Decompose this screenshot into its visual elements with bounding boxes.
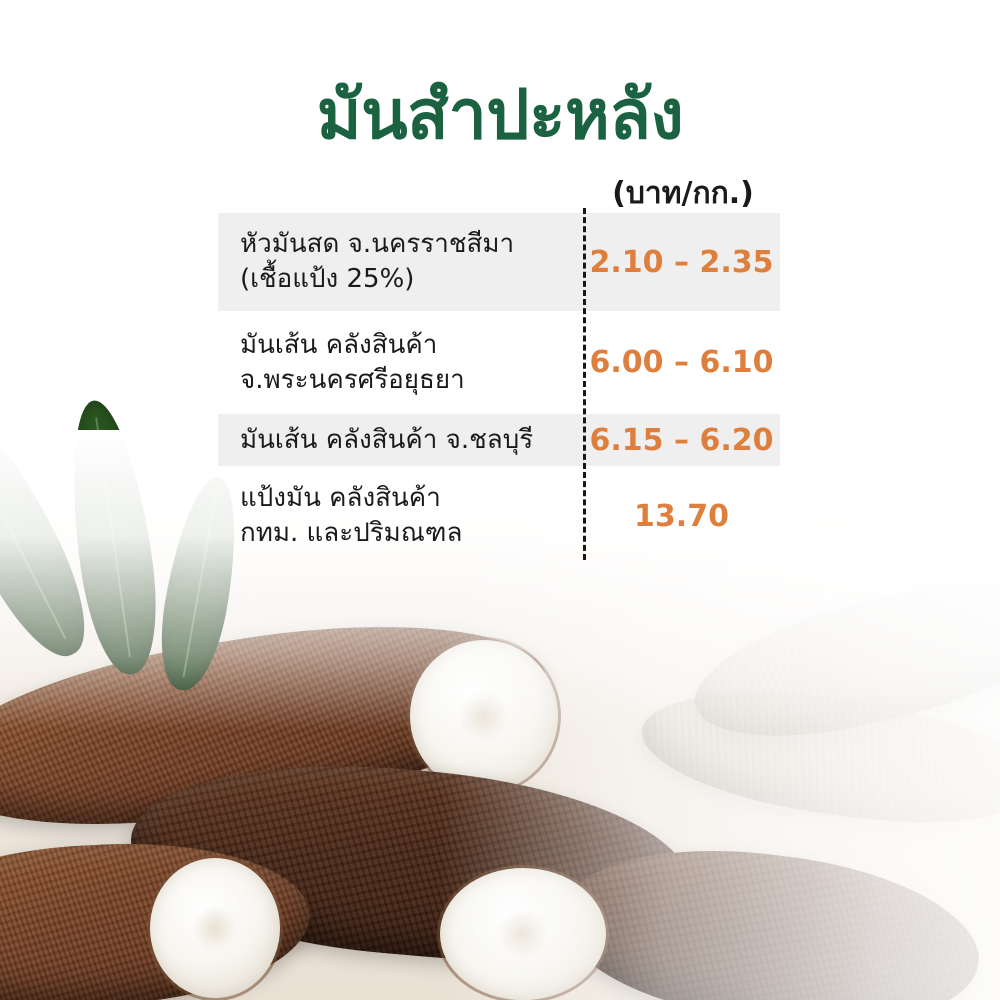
table-row: มันเส้น คลังสินค้า จ.ชลบุรี 6.15 – 6.20	[218, 414, 780, 466]
row-price: 6.15 – 6.20	[583, 423, 780, 458]
row-label: มันเส้น คลังสินค้า จ.ชลบุรี	[218, 423, 583, 458]
row-label: มันเส้น คลังสินค้า จ.พระนครศรีอยุธยา	[218, 328, 583, 398]
page-title: มันสำปะหลัง	[0, 78, 1000, 154]
table-row: หัวมันสด จ.นครราชสีมา (เชื้อแป้ง 25%) 2.…	[218, 213, 780, 311]
poster-content: มันสำปะหลัง (บาท/กก.) หัวมันสด จ.นครราชส…	[0, 0, 1000, 1000]
row-label-line1: หัวมันสด จ.นครราชสีมา	[240, 227, 573, 262]
row-label-line2: กทม. และปริมณฑล	[240, 516, 573, 551]
poster-canvas: มันสำปะหลัง (บาท/กก.) หัวมันสด จ.นครราชส…	[0, 0, 1000, 1000]
price-table: หัวมันสด จ.นครราชสีมา (เชื้อแป้ง 25%) 2.…	[218, 213, 780, 566]
row-label-line2: จ.พระนครศรีอยุธยา	[240, 363, 573, 398]
table-row: มันเส้น คลังสินค้า จ.พระนครศรีอยุธยา 6.0…	[218, 311, 780, 414]
price-unit-header: (บาท/กก.)	[586, 170, 780, 217]
row-price: 13.70	[583, 499, 780, 534]
row-label-line1: แป้งมัน คลังสินค้า	[240, 481, 573, 516]
row-label-line1: มันเส้น คลังสินค้า	[240, 328, 573, 363]
row-price: 2.10 – 2.35	[583, 245, 780, 280]
row-price: 6.00 – 6.10	[583, 345, 780, 380]
row-label: หัวมันสด จ.นครราชสีมา (เชื้อแป้ง 25%)	[218, 227, 583, 297]
row-label-line2: (เชื้อแป้ง 25%)	[240, 262, 573, 297]
table-row: แป้งมัน คลังสินค้า กทม. และปริมณฑล 13.70	[218, 466, 780, 566]
row-label: แป้งมัน คลังสินค้า กทม. และปริมณฑล	[218, 481, 583, 551]
row-label-line1: มันเส้น คลังสินค้า จ.ชลบุรี	[240, 423, 573, 458]
column-divider	[583, 208, 586, 560]
